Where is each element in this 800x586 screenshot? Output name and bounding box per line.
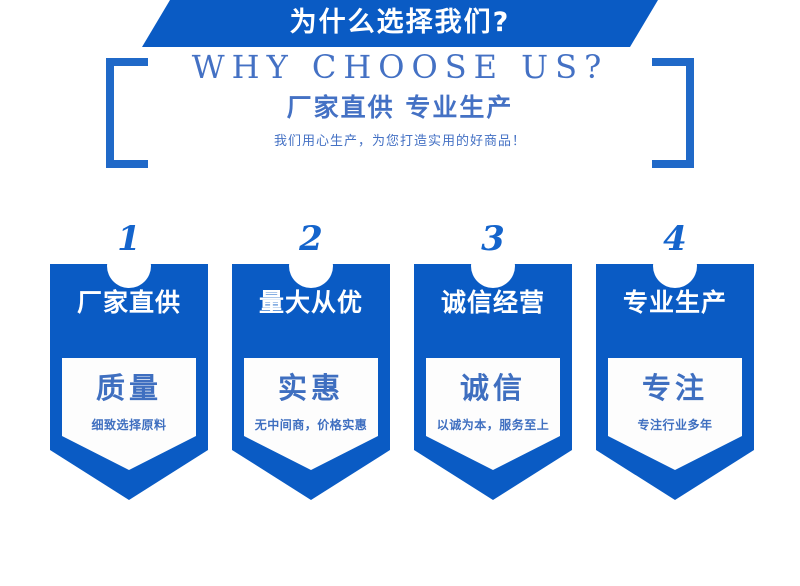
card-description: 以诚为本，服务至上 <box>414 418 572 432</box>
banner-title: 为什么选择我们? <box>142 0 658 47</box>
bracket-bottom-arm <box>652 160 694 168</box>
card-highlight: 诚信 <box>414 374 572 403</box>
feature-card: 2 量大从优 实惠 无中间商，价格实惠 <box>232 222 390 500</box>
card-description: 专注行业多年 <box>596 418 754 432</box>
feature-card-list: 1 厂家直供 质量 细致选择原料 2 量大从优 实惠 无中间商，价格实惠 3 诚… <box>50 222 750 512</box>
card-number: 3 <box>414 222 572 256</box>
tagline: 我们用心生产，为您打造实用的好商品！ <box>0 134 800 150</box>
card-description: 细致选择原料 <box>50 418 208 432</box>
chinese-subtitle: 厂家直供 专业生产 <box>0 94 800 123</box>
card-highlight: 质量 <box>50 374 208 403</box>
card-number: 2 <box>232 222 390 256</box>
card-title: 诚信经营 <box>414 290 572 315</box>
card-highlight: 专注 <box>596 374 754 403</box>
feature-card: 1 厂家直供 质量 细致选择原料 <box>50 222 208 500</box>
feature-card: 3 诚信经营 诚信 以诚为本，服务至上 <box>414 222 572 500</box>
card-title: 量大从优 <box>232 290 390 315</box>
card-number: 1 <box>50 222 208 256</box>
card-title: 厂家直供 <box>50 290 208 315</box>
why-choose-us-banner: 为什么选择我们? WHY CHOOSE US? 厂家直供 专业生产 我们用心生产… <box>0 0 800 586</box>
card-description: 无中间商，价格实惠 <box>232 418 390 432</box>
card-highlight: 实惠 <box>232 374 390 403</box>
card-number: 4 <box>596 222 754 256</box>
card-title: 专业生产 <box>596 290 754 315</box>
english-title: WHY CHOOSE US? <box>0 50 800 85</box>
bracket-bottom-arm <box>106 160 148 168</box>
feature-card: 4 专业生产 专注 专注行业多年 <box>596 222 754 500</box>
